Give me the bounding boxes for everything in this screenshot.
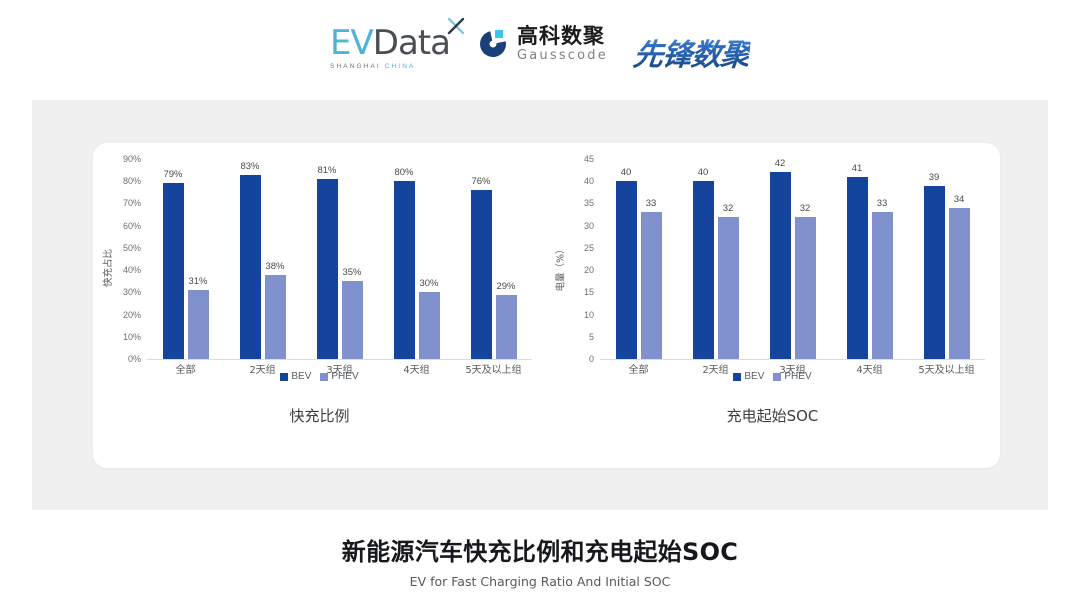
bar-fill bbox=[188, 290, 209, 359]
chart-title-right: 充电起始SOC bbox=[546, 405, 999, 426]
legend-label: PHEV bbox=[784, 371, 811, 382]
bar-fill bbox=[496, 295, 517, 359]
bar-fill bbox=[616, 181, 637, 359]
bar-value-label: 32 bbox=[800, 203, 811, 214]
bar-fill bbox=[718, 217, 739, 359]
bar-value-label: 33 bbox=[646, 198, 657, 209]
bar-bev[interactable]: 39 bbox=[924, 186, 945, 359]
bar-value-label: 39 bbox=[929, 172, 940, 183]
legend-swatch bbox=[773, 373, 781, 381]
bar-value-label: 34 bbox=[954, 194, 965, 205]
y-tick-label: 50% bbox=[123, 243, 141, 253]
legend-left: BEVPHEV bbox=[93, 371, 546, 382]
bar-phev[interactable]: 34 bbox=[949, 208, 970, 359]
bar-fill bbox=[924, 186, 945, 359]
plot-right: 40334032423241333934 bbox=[600, 159, 985, 360]
bar-value-label: 76% bbox=[471, 176, 490, 187]
legend-label: BEV bbox=[744, 371, 764, 382]
bar-fill bbox=[471, 190, 492, 359]
footer: 新能源汽车快充比例和充电起始SOC EV for Fast Charging R… bbox=[0, 532, 1080, 589]
bar-value-label: 40 bbox=[621, 167, 632, 178]
bar-value-label: 35% bbox=[342, 267, 361, 278]
bar-fill bbox=[265, 275, 286, 359]
bar-group: 79%31% bbox=[147, 159, 224, 359]
legend-label: PHEV bbox=[331, 371, 358, 382]
legend-label: BEV bbox=[291, 371, 311, 382]
bar-phev[interactable]: 30% bbox=[419, 292, 440, 359]
page-root: EV Data SHANGHAI CHINA bbox=[0, 0, 1080, 608]
bar-value-label: 40 bbox=[698, 167, 709, 178]
bar-fill bbox=[770, 172, 791, 359]
bar-bev[interactable]: 76% bbox=[471, 190, 492, 359]
plot-area-wrapper-right: 电量（%） 051015202530354045 403340324232413… bbox=[546, 159, 999, 377]
bar-value-label: 81% bbox=[317, 165, 336, 176]
bar-value-label: 38% bbox=[265, 261, 284, 272]
y-tick-label: 20% bbox=[123, 310, 141, 320]
y-axis-ticks-left: 0%10%20%30%40%50%60%70%80%90% bbox=[111, 159, 145, 359]
y-tick-label: 30% bbox=[123, 287, 141, 297]
bar-fill bbox=[419, 292, 440, 359]
evdata-suffix: Data bbox=[373, 26, 450, 60]
gausscode-name-cn: 高科数聚 bbox=[517, 26, 608, 47]
page-title: 新能源汽车快充比例和充电起始SOC bbox=[0, 532, 1080, 567]
legend-item-bev[interactable]: BEV bbox=[733, 371, 764, 382]
bar-group: 4133 bbox=[831, 159, 908, 359]
bar-bev[interactable]: 40 bbox=[616, 181, 637, 359]
legend-item-phev[interactable]: PHEV bbox=[773, 371, 811, 382]
y-tick-label: 35 bbox=[584, 198, 594, 208]
evdata-tagline-city: SHANGHAI bbox=[330, 63, 381, 70]
bar-value-label: 33 bbox=[877, 198, 888, 209]
bar-value-label: 29% bbox=[496, 281, 515, 292]
bar-group: 3934 bbox=[908, 159, 985, 359]
logo-bar: EV Data SHANGHAI CHINA bbox=[0, 22, 1080, 84]
bar-fill bbox=[240, 175, 261, 359]
bar-bev[interactable]: 40 bbox=[693, 181, 714, 359]
legend-right: BEVPHEV bbox=[546, 371, 999, 382]
chart-initial-soc: 电量（%） 051015202530354045 403340324232413… bbox=[546, 143, 999, 468]
legend-item-phev[interactable]: PHEV bbox=[320, 371, 358, 382]
bar-fill bbox=[342, 281, 363, 359]
bar-value-label: 80% bbox=[394, 167, 413, 178]
legend-item-bev[interactable]: BEV bbox=[280, 371, 311, 382]
xianfeng-logo: 先锋数聚 bbox=[631, 22, 752, 74]
bar-value-label: 30% bbox=[419, 278, 438, 289]
bar-phev[interactable]: 35% bbox=[342, 281, 363, 359]
x-mark-icon bbox=[446, 16, 466, 36]
y-tick-label: 40% bbox=[123, 265, 141, 275]
gausscode-g-icon bbox=[476, 27, 510, 61]
plot-left: 79%31%83%38%81%35%80%30%76%29% bbox=[147, 159, 532, 360]
bar-bev[interactable]: 42 bbox=[770, 172, 791, 359]
bar-value-label: 83% bbox=[240, 161, 259, 172]
bar-bev[interactable]: 81% bbox=[317, 179, 338, 359]
y-tick-label: 10 bbox=[584, 310, 594, 320]
bar-phev[interactable]: 29% bbox=[496, 295, 517, 359]
bar-phev[interactable]: 33 bbox=[872, 212, 893, 359]
gausscode-name-en: Gausscode bbox=[517, 49, 608, 62]
y-tick-label: 0 bbox=[589, 354, 594, 364]
bar-bev[interactable]: 83% bbox=[240, 175, 261, 359]
evdata-tagline: SHANGHAI CHINA bbox=[330, 63, 415, 70]
y-tick-label: 15 bbox=[584, 287, 594, 297]
y-tick-label: 25 bbox=[584, 243, 594, 253]
y-axis-ticks-right: 051015202530354045 bbox=[564, 159, 598, 359]
y-tick-label: 90% bbox=[123, 154, 141, 164]
y-tick-label: 10% bbox=[123, 332, 141, 342]
evdata-wordmark: EV Data bbox=[330, 26, 450, 60]
y-tick-label: 0% bbox=[128, 354, 141, 364]
bar-bev[interactable]: 41 bbox=[847, 177, 868, 359]
bar-value-label: 32 bbox=[723, 203, 734, 214]
bar-group: 76%29% bbox=[455, 159, 532, 359]
legend-swatch bbox=[280, 373, 288, 381]
bar-fill bbox=[317, 179, 338, 359]
bar-phev[interactable]: 32 bbox=[795, 217, 816, 359]
bar-phev[interactable]: 38% bbox=[265, 275, 286, 359]
bar-group: 81%35% bbox=[301, 159, 378, 359]
gausscode-text: 高科数聚 Gausscode bbox=[517, 26, 608, 62]
y-tick-label: 60% bbox=[123, 221, 141, 231]
bar-fill bbox=[394, 181, 415, 359]
bar-phev[interactable]: 32 bbox=[718, 217, 739, 359]
y-tick-label: 20 bbox=[584, 265, 594, 275]
bar-group: 4033 bbox=[600, 159, 677, 359]
bar-phev[interactable]: 31% bbox=[188, 290, 209, 359]
bar-group: 4232 bbox=[754, 159, 831, 359]
gausscode-logo: 高科数聚 Gausscode bbox=[476, 22, 608, 62]
evdata-prefix: EV bbox=[330, 26, 373, 60]
evdata-tagline-country: CHINA bbox=[385, 63, 416, 70]
bar-value-label: 41 bbox=[852, 163, 863, 174]
y-tick-label: 40 bbox=[584, 176, 594, 186]
bar-fill bbox=[847, 177, 868, 359]
legend-swatch bbox=[320, 373, 328, 381]
legend-swatch bbox=[733, 373, 741, 381]
bar-phev[interactable]: 33 bbox=[641, 212, 662, 359]
y-tick-label: 30 bbox=[584, 221, 594, 231]
bar-fill bbox=[693, 181, 714, 359]
bar-bev[interactable]: 80% bbox=[394, 181, 415, 359]
charts-container: 快充占比 0%10%20%30%40%50%60%70%80%90% 79%31… bbox=[93, 143, 1000, 468]
y-tick-label: 5 bbox=[589, 332, 594, 342]
bar-fill bbox=[949, 208, 970, 359]
chart-fast-charging-ratio: 快充占比 0%10%20%30%40%50%60%70%80%90% 79%31… bbox=[93, 143, 546, 468]
plot-area-wrapper-left: 快充占比 0%10%20%30%40%50%60%70%80%90% 79%31… bbox=[93, 159, 546, 377]
bar-groups-right: 40334032423241333934 bbox=[600, 159, 985, 359]
bar-groups-left: 79%31%83%38%81%35%80%30%76%29% bbox=[147, 159, 532, 359]
bar-group: 4032 bbox=[677, 159, 754, 359]
bar-value-label: 42 bbox=[775, 158, 786, 169]
bar-value-label: 79% bbox=[163, 169, 182, 180]
bar-bev[interactable]: 79% bbox=[163, 183, 184, 359]
y-tick-label: 80% bbox=[123, 176, 141, 186]
page-subtitle: EV for Fast Charging Ratio And Initial S… bbox=[0, 574, 1080, 589]
bar-group: 80%30% bbox=[378, 159, 455, 359]
y-tick-label: 45 bbox=[584, 154, 594, 164]
bar-fill bbox=[641, 212, 662, 359]
bar-group: 83%38% bbox=[224, 159, 301, 359]
evdata-logo: EV Data SHANGHAI CHINA bbox=[330, 22, 450, 70]
bar-value-label: 31% bbox=[188, 276, 207, 287]
bar-fill bbox=[163, 183, 184, 359]
y-tick-label: 70% bbox=[123, 198, 141, 208]
bar-fill bbox=[795, 217, 816, 359]
chart-title-left: 快充比例 bbox=[93, 405, 546, 426]
bar-fill bbox=[872, 212, 893, 359]
